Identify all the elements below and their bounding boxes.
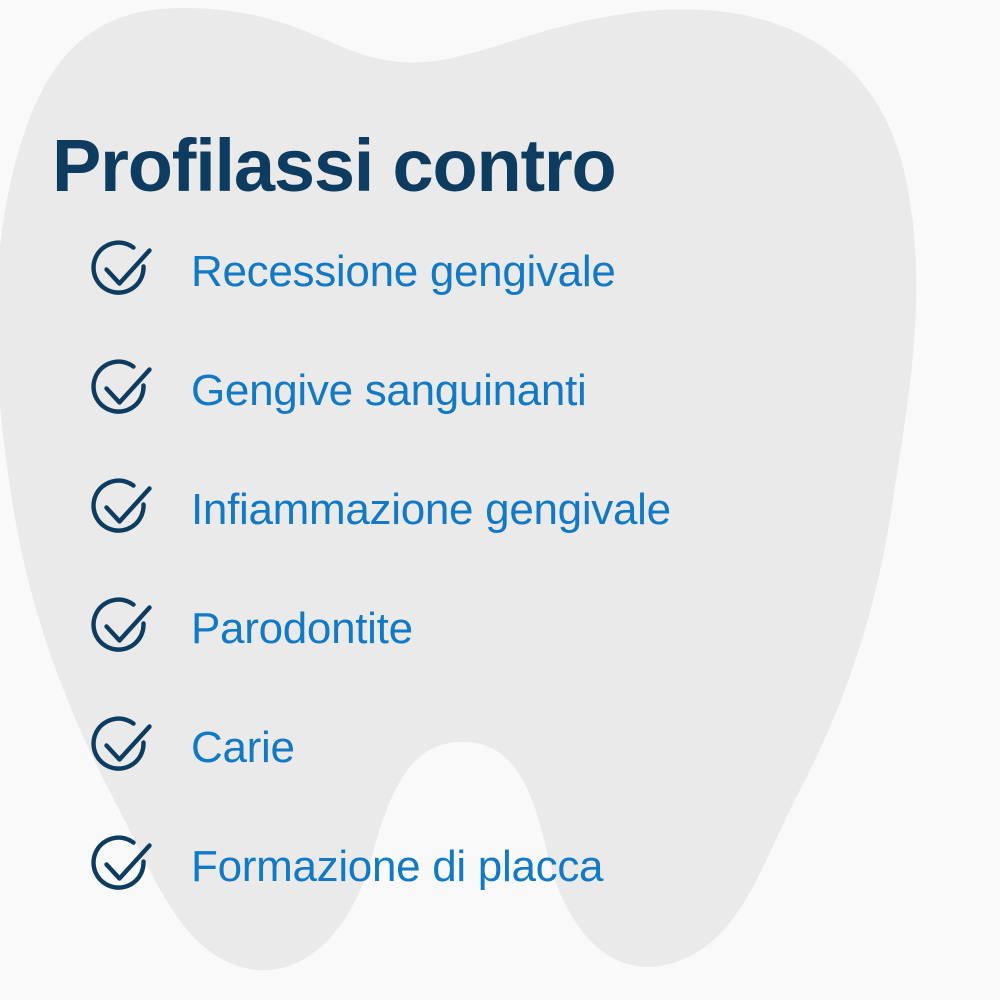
list-item: Parodontite [0, 593, 1000, 712]
page-title: Profilassi contro [52, 126, 616, 206]
list-item: Carie [0, 712, 1000, 831]
benefits-list: Recessione gengivale Gengive sanguinanti… [0, 236, 1000, 950]
list-item-label: Parodontite [191, 595, 413, 663]
content-layer: Profilassi contro Recessione gengivale G… [0, 0, 1000, 1000]
list-item-label: Recessione gengivale [191, 238, 616, 306]
check-circle-icon [86, 593, 158, 665]
list-item: Gengive sanguinanti [0, 355, 1000, 474]
check-circle-icon [86, 831, 158, 903]
list-item-label: Gengive sanguinanti [191, 357, 586, 425]
list-item: Formazione di placca [0, 831, 1000, 950]
list-item: Infiammazione gengivale [0, 474, 1000, 593]
list-item-label: Formazione di placca [191, 833, 603, 901]
list-item-label: Infiammazione gengivale [191, 476, 671, 544]
check-circle-icon [86, 474, 158, 546]
poster-canvas: Profilassi contro Recessione gengivale G… [0, 0, 1000, 1000]
check-circle-icon [86, 712, 158, 784]
check-circle-icon [86, 236, 158, 308]
check-circle-icon [86, 355, 158, 427]
list-item-label: Carie [191, 714, 295, 782]
list-item: Recessione gengivale [0, 236, 1000, 355]
